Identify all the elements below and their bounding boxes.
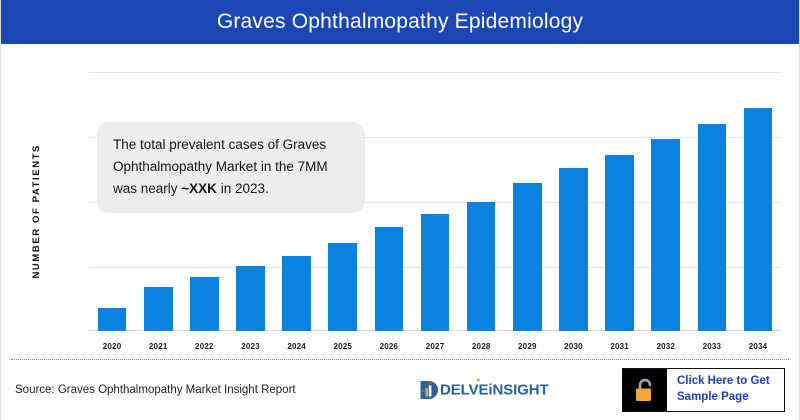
callout-highlight: ~XXK (181, 181, 217, 196)
x-axis-tick-label: 2033 (689, 342, 735, 351)
cta-label: Click Here to Get Sample Page (667, 374, 784, 405)
chart-region: NUMBER OF PATIENTS 202020212022202320242… (1, 44, 799, 359)
padlock-icon-box (623, 369, 667, 411)
bar-slot (458, 72, 504, 331)
header-banner: Graves Ophthalmopathy Epidemiology (1, 0, 799, 44)
delveinsight-logo: DELVEiNSIGHT (419, 380, 549, 401)
bar-slot (550, 72, 596, 331)
bar-slot (597, 72, 643, 331)
bar (698, 124, 727, 331)
cta-label-line2: Sample Page (677, 390, 784, 406)
x-axis-tick-label: 2029 (504, 342, 550, 351)
bar (328, 243, 357, 331)
slide-page: Graves Ophthalmopathy Epidemiology NUMBE… (0, 0, 800, 420)
bar (190, 277, 219, 331)
x-axis-tick-label: 2034 (735, 342, 781, 351)
x-axis-tick-label: 2031 (597, 342, 643, 351)
bar-slot (689, 72, 735, 331)
bar (282, 256, 311, 331)
x-axis-tick-label: 2027 (412, 342, 458, 351)
logo-d-chart-icon (419, 380, 440, 401)
bar (744, 108, 773, 331)
x-axis-tick-label: 2020 (89, 342, 135, 351)
get-sample-page-button[interactable]: Click Here to Get Sample Page (622, 368, 785, 412)
bar-slot (643, 72, 689, 331)
x-axis-tick-label: 2022 (181, 342, 227, 351)
bar-slot (366, 72, 412, 331)
bar-slot (504, 72, 550, 331)
x-axis-tick-label: 2026 (366, 342, 412, 351)
bar (144, 287, 173, 331)
bar (421, 214, 450, 331)
bar (513, 183, 542, 331)
bar (651, 139, 680, 331)
logo-i-dot-icon (477, 379, 480, 382)
logo-wordmark: DELVEiNSIGHT (440, 383, 549, 398)
bar (98, 308, 127, 331)
x-axis-tick-label: 2030 (550, 342, 596, 351)
x-axis-tick-label: 2023 (227, 342, 273, 351)
bar (605, 155, 634, 331)
x-axis-tick-label: 2028 (458, 342, 504, 351)
x-axis-labels: 2020202120222023202420252026202720282029… (89, 342, 781, 351)
page-title: Graves Ophthalmopathy Epidemiology (217, 10, 583, 34)
x-axis-tick-label: 2032 (643, 342, 689, 351)
logo-d-mark-icon (419, 380, 440, 401)
footer: Source: Graves Ophthalmopathy Market Ins… (1, 360, 799, 420)
bar (467, 202, 496, 332)
callout-text-part2: in 2023. (217, 181, 269, 196)
open-padlock-icon (634, 377, 656, 403)
y-axis-label: NUMBER OF PATIENTS (31, 144, 47, 279)
bar (375, 227, 404, 331)
x-axis-tick-label: 2024 (274, 342, 320, 351)
bar-slot (412, 72, 458, 331)
bar (559, 168, 588, 331)
source-text: Source: Graves Ophthalmopathy Market Ins… (15, 384, 296, 396)
x-axis-tick-label: 2021 (135, 342, 181, 351)
x-axis-tick-label: 2025 (320, 342, 366, 351)
callout-bubble: The total prevalent cases of Graves Opht… (97, 122, 365, 213)
bar-slot (735, 72, 781, 331)
cta-label-line1: Click Here to Get (677, 374, 784, 390)
bar (236, 266, 265, 331)
